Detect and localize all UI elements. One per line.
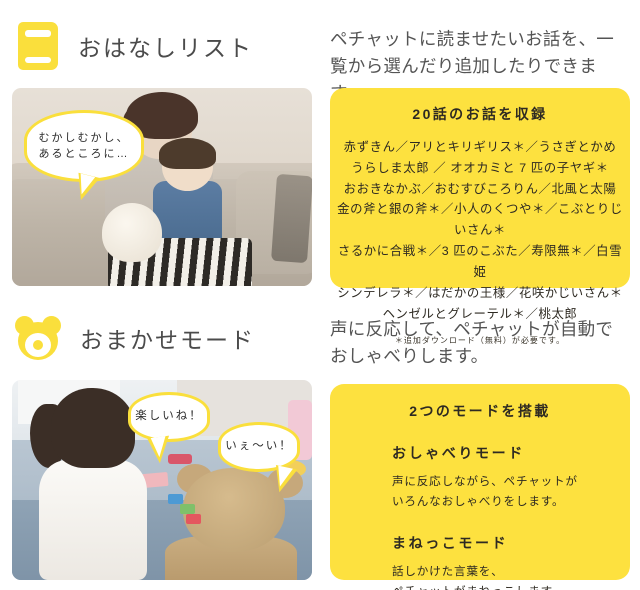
page-title-story-list: おはなしリスト (78, 29, 253, 63)
bubble-story-line-2: あるところに… (39, 146, 130, 163)
bubble-yay-line-1: いぇ〜い！ (225, 438, 293, 455)
mode-mimic-desc-line-2: ペチャットがまねっこします。 (392, 582, 630, 590)
promo-page: おはなしリスト ペチャットに読ませたいお話を、一覧から選んだり追加したりできます… (0, 0, 640, 590)
section-header-story-list: おはなしリスト (18, 22, 253, 70)
bear-nose (33, 340, 43, 350)
lead-text-auto-mode: 声に反応して、ペチャットが自動でおしゃべりします。 (330, 316, 630, 370)
page-title-auto-mode: おまかせモード (80, 321, 255, 355)
mode-mimic-desc: 話しかけた言葉を、 ペチャットがまねっこします。 (392, 562, 630, 590)
panel-auto-mode: 2つのモードを搭載 おしゃべりモード 声に反応しながら、ペチャットが いろんなお… (330, 384, 630, 580)
book-icon (18, 22, 58, 70)
book-label-bar-top (25, 30, 51, 37)
story-list-line: うらしま太郎 ／ オオカミと 7 匹の子ヤギ＊ (336, 158, 624, 179)
bubble-fun-line-1: 楽しいね！ (135, 408, 203, 425)
mode-mimic: まねっこモード 話しかけた言葉を、 ペチャットがまねっこします。 (330, 533, 630, 590)
mode-talk-desc-line-1: 声に反応しながら、ペチャットが (392, 472, 630, 492)
mode-mimic-desc-line-1: 話しかけた言葉を、 (392, 562, 630, 582)
story-list: 赤ずきん／アリとキリギリス＊／うさぎとかめ うらしま太郎 ／ オオカミと 7 匹… (330, 137, 630, 324)
bear-icon (14, 316, 62, 360)
bubble-story: むかしむかし、 あるところに… (24, 110, 144, 182)
story-list-line: さるかに合戦＊／3 匹のこぶた／寿限無＊／白雪姫 (336, 241, 624, 283)
mode-talk-name: おしゃべりモード (392, 443, 630, 463)
mode-talk-desc: 声に反応しながら、ペチャットが いろんなおしゃべりをします。 (392, 472, 630, 513)
panel-story-list: 20話のお話を収録 赤ずきん／アリとキリギリス＊／うさぎとかめ うらしま太郎 ／… (330, 88, 630, 288)
story-list-line: シンデレラ＊／はだかの王様／花咲かじいさん＊ (336, 283, 624, 304)
panel-title-mode-count: 2つのモードを搭載 (330, 401, 630, 421)
photo-mother-and-baby: むかしむかし、 あるところに… (12, 88, 312, 286)
mode-talk: おしゃべりモード 声に反応しながら、ペチャットが いろんなおしゃべりをします。 (330, 443, 630, 513)
bubble-yay: いぇ〜い！ (218, 422, 300, 472)
bubble-story-line-1: むかしむかし、 (39, 130, 130, 147)
panel-title-story-count: 20話のお話を収録 (330, 104, 630, 124)
story-list-line: 金の斧と銀の斧＊／小人のくつや＊／こぶとりじいさん＊ (336, 199, 624, 241)
story-list-line: 赤ずきん／アリとキリギリス＊／うさぎとかめ (336, 137, 624, 158)
story-list-line: おおきなかぶ／おむすびころりん／北風と太陽 (336, 179, 624, 200)
section-header-auto-mode: おまかせモード (14, 316, 255, 360)
bubble-fun: 楽しいね！ (128, 392, 210, 442)
photo-girl-and-teddy: 楽しいね！ いぇ〜い！ (12, 380, 312, 580)
mode-talk-desc-line-2: いろんなおしゃべりをします。 (392, 492, 630, 512)
mode-mimic-name: まねっこモード (392, 533, 630, 553)
book-label-bar-bottom (25, 57, 51, 63)
